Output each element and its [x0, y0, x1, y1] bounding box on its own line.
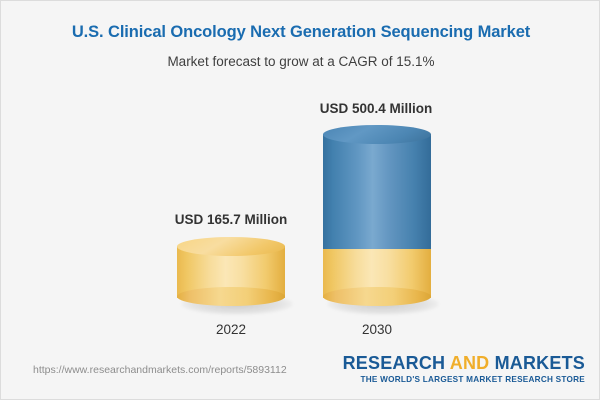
bar-value-label-2022: USD 165.7 Million: [151, 212, 311, 227]
bar-cylinder-2030: [323, 125, 431, 307]
chart-plot-area: USD 165.7 Million 2022 USD 500.4 Million…: [1, 1, 600, 346]
research-and-markets-logo[interactable]: RESEARCH AND MARKETS THE WORLD'S LARGEST…: [343, 354, 585, 384]
chart-card: U.S. Clinical Oncology Next Generation S…: [0, 0, 600, 400]
bar-cylinder-2022: [177, 237, 285, 307]
bar-year-label-2022: 2022: [181, 322, 281, 337]
bar-bottom-cap-2030: [323, 287, 431, 306]
bar-value-label-2030: USD 500.4 Million: [296, 101, 456, 116]
logo-tagline: THE WORLD'S LARGEST MARKET RESEARCH STOR…: [343, 375, 585, 384]
logo-word-research: RESEARCH: [343, 353, 446, 373]
logo-wordmark: RESEARCH AND MARKETS: [343, 354, 585, 373]
bar-year-label-2030: 2030: [327, 322, 427, 337]
bar-bottom-cap-2022: [177, 287, 285, 306]
report-url-link[interactable]: https://www.researchandmarkets.com/repor…: [33, 364, 287, 376]
bar-top-cap-2030: [323, 125, 431, 144]
logo-word-and: AND: [445, 353, 494, 373]
bar-segment-2030-growth: [323, 134, 431, 249]
bar-top-cap-2022: [177, 237, 285, 256]
logo-word-markets: MARKETS: [495, 353, 585, 373]
footer: https://www.researchandmarkets.com/repor…: [1, 346, 600, 400]
